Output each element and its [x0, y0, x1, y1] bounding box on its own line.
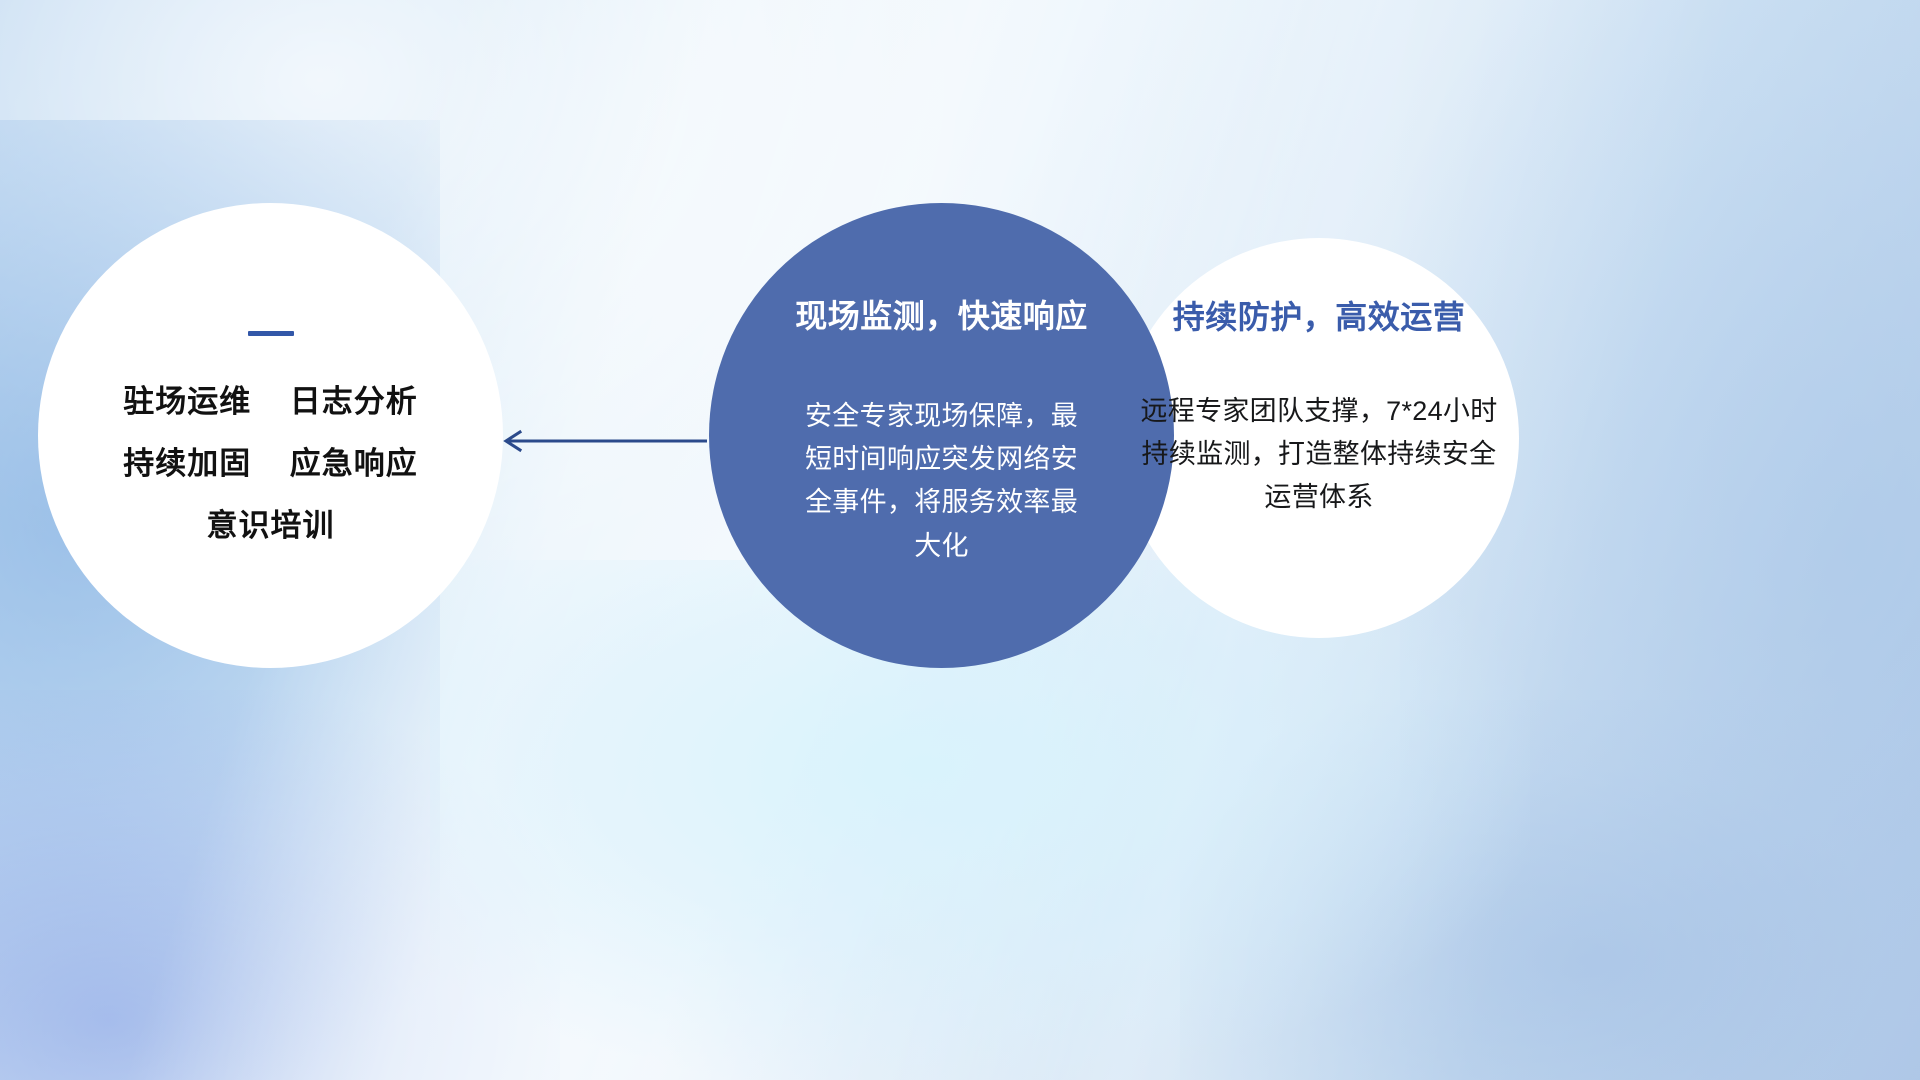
- left-circle-line-3: 意识培训: [207, 510, 335, 541]
- center-circle-title: 现场监测，快速响应: [795, 291, 1088, 337]
- background-wash-bottom-right: [1180, 700, 1920, 1080]
- center-circle-body: 安全专家现场保障，最短时间响应突发网络安全事件，将服务效率最大化: [792, 395, 1092, 568]
- left-circle-line-1: 驻场运维 日志分析: [123, 386, 417, 417]
- center-circle-content: 现场监测，快速响应 安全专家现场保障，最短时间响应突发网络安全事件，将服务效率最…: [709, 203, 1174, 668]
- slide-canvas: 驻场运维 日志分析 持续加固 应急响应 意识培训 现场监测，快速响应 安全专家现…: [0, 0, 1920, 1080]
- left-circle-divider: [248, 331, 294, 336]
- left-circle-line-2: 持续加固 应急响应: [123, 448, 417, 479]
- right-circle-body: 远程专家团队支撑，7*24小时持续监测，打造整体持续安全运营体系: [1139, 390, 1499, 520]
- right-circle-title: 持续防护，高效运营: [1173, 292, 1466, 338]
- left-circle-content: 驻场运维 日志分析 持续加固 应急响应 意识培训: [38, 203, 503, 668]
- background-wash-bottom-left: [0, 690, 560, 1080]
- right-circle-content: 持续防护，高效运营 远程专家团队支撑，7*24小时持续监测，打造整体持续安全运营…: [1119, 238, 1519, 638]
- arrow-left-icon: [493, 428, 708, 454]
